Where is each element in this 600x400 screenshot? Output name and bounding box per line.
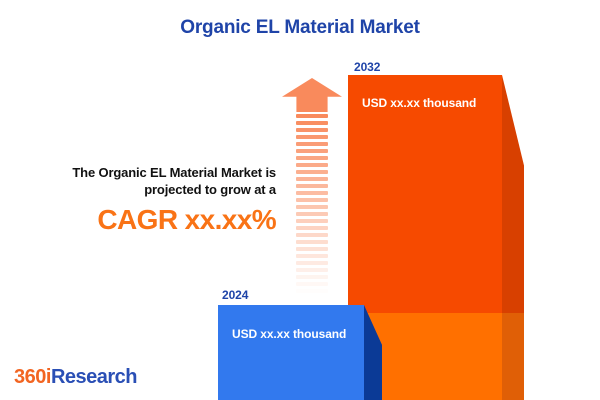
bar-value-2032: USD xx.xx thousand (362, 96, 476, 110)
arrow-stripe (296, 170, 328, 174)
cagr-callout: The Organic EL Material Market is projec… (28, 164, 276, 236)
arrow-stripe (296, 233, 328, 237)
arrow-stripe (296, 163, 328, 167)
up-arrow-shaft (296, 114, 328, 302)
arrow-stripe (296, 156, 328, 160)
arrow-stripe (296, 247, 328, 251)
logo-text-research: Research (51, 366, 137, 388)
arrow-stripe (296, 191, 328, 195)
arrow-stripe (296, 268, 328, 272)
up-arrow-head (282, 78, 342, 112)
arrow-stripe (296, 121, 328, 125)
arrow-stripe (296, 142, 328, 146)
cagr-value: CAGR xx.xx% (28, 204, 276, 236)
arrow-stripe (296, 275, 328, 279)
arrow-stripe (296, 289, 328, 293)
page-title: Organic EL Material Market (0, 17, 600, 39)
infographic-canvas: Organic EL Material Market The Organic E… (0, 0, 600, 400)
callout-line-2: projected to grow at a (28, 181, 276, 198)
arrow-stripe (296, 184, 328, 188)
bar-label-2032: 2032 (354, 60, 380, 74)
bar-2024-front (218, 305, 364, 400)
arrow-stripe (296, 205, 328, 209)
arrow-stripe (296, 128, 328, 132)
arrow-stripe (296, 226, 328, 230)
arrow-stripe (296, 177, 328, 181)
bar-2032-side-lower (502, 313, 524, 400)
brand-logo[interactable]: 360iResearch (14, 366, 137, 389)
arrow-stripe (296, 198, 328, 202)
logo-text-360: 360 (14, 366, 46, 388)
arrow-stripe (296, 282, 328, 286)
bar-label-2024: 2024 (222, 288, 248, 302)
up-arrow-icon (282, 78, 342, 302)
bar-2032-side-upper (502, 75, 524, 313)
callout-line-1: The Organic EL Material Market is (28, 164, 276, 181)
arrow-stripe (296, 254, 328, 258)
arrow-stripe (296, 149, 328, 153)
arrow-stripe (296, 261, 328, 265)
bar-2032-front-upper (348, 75, 502, 313)
bar-value-2024: USD xx.xx thousand (232, 327, 346, 341)
arrow-stripe (296, 240, 328, 244)
arrow-stripe (296, 114, 328, 118)
arrow-stripe (296, 212, 328, 216)
arrow-stripe (296, 135, 328, 139)
arrow-stripe (296, 296, 328, 300)
arrow-stripe (296, 219, 328, 223)
